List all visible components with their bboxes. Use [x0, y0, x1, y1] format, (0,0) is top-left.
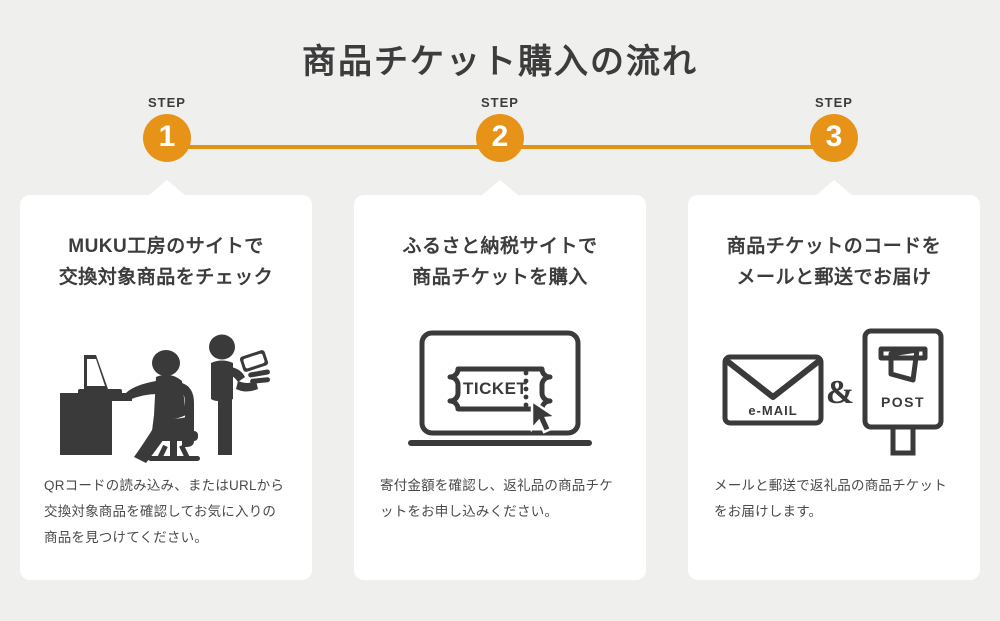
step-card-2-heading-line1: ふるさと納税サイトで [368, 231, 632, 262]
step-card-2-body: 寄付金額を確認し、返礼品の商品チケットをお申し込みください。 [354, 473, 646, 526]
step-card-2-illustration: TICKET [354, 308, 646, 473]
step-number-2: 2 [492, 122, 509, 152]
step-card-3-illustration: e-MAIL & POST [688, 308, 980, 473]
email-envelope-icon: e-MAIL [725, 357, 821, 423]
step-rail: STEP 1 STEP 2 STEP 3 [0, 96, 1000, 196]
step-number-1: 1 [159, 122, 176, 152]
step-node-1: STEP 1 [107, 96, 227, 162]
step-card-1-heading: MUKU工房のサイトで 交換対象商品をチェック [20, 231, 312, 294]
step-card-1: MUKU工房のサイトで 交換対象商品をチェック [20, 195, 312, 580]
step-kicker-2: STEP [440, 96, 560, 109]
post-mailbox-icon: POST [865, 331, 941, 453]
step-card-1-illustration [20, 308, 312, 473]
step-card-3-heading-line2: メールと郵送でお届け [702, 262, 966, 293]
step-kicker-1: STEP [107, 96, 227, 109]
step-card-1-heading-line2: 交換対象商品をチェック [34, 262, 298, 293]
step-card-1-heading-line1: MUKU工房のサイトで [34, 231, 298, 262]
step-number-3: 3 [826, 122, 843, 152]
step-card-2-heading: ふるさと納税サイトで 商品チケットを購入 [354, 231, 646, 294]
step-card-3: 商品チケットのコードを メールと郵送でお届け e-MAIL & POST [688, 195, 980, 580]
step-node-2: STEP 2 [440, 96, 560, 162]
ampersand-symbol: & [826, 374, 854, 411]
ticket-label: TICKET [463, 379, 528, 398]
step-card-3-heading-line1: 商品チケットのコードを [702, 231, 966, 262]
step-node-3: STEP 3 [774, 96, 894, 162]
step-circle-2: 2 [476, 114, 524, 162]
step-circle-3: 3 [810, 114, 858, 162]
step-circle-1: 1 [143, 114, 191, 162]
step-card-3-body: メールと郵送で返礼品の商品チケットをお届けします。 [688, 473, 980, 526]
email-label: e-MAIL [748, 403, 797, 418]
step-card-3-heading: 商品チケットのコードを メールと郵送でお届け [688, 231, 980, 294]
post-label: POST [881, 394, 925, 410]
step-card-2: ふるさと納税サイトで 商品チケットを購入 TICKET 寄付金額を確認し、返礼品… [354, 195, 646, 580]
page-title: 商品チケット購入の流れ [0, 34, 1000, 83]
desk-and-smartphone-people-icon [56, 315, 276, 465]
step-card-2-heading-line2: 商品チケットを購入 [368, 262, 632, 293]
step-kicker-3: STEP [774, 96, 894, 109]
laptop-ticket-cursor-icon: TICKET [400, 325, 600, 455]
email-and-post-icon: e-MAIL & POST [709, 323, 959, 458]
step-card-1-body: QRコードの読み込み、またはURLから交換対象商品を確認してお気に入りの商品を見… [20, 473, 312, 552]
